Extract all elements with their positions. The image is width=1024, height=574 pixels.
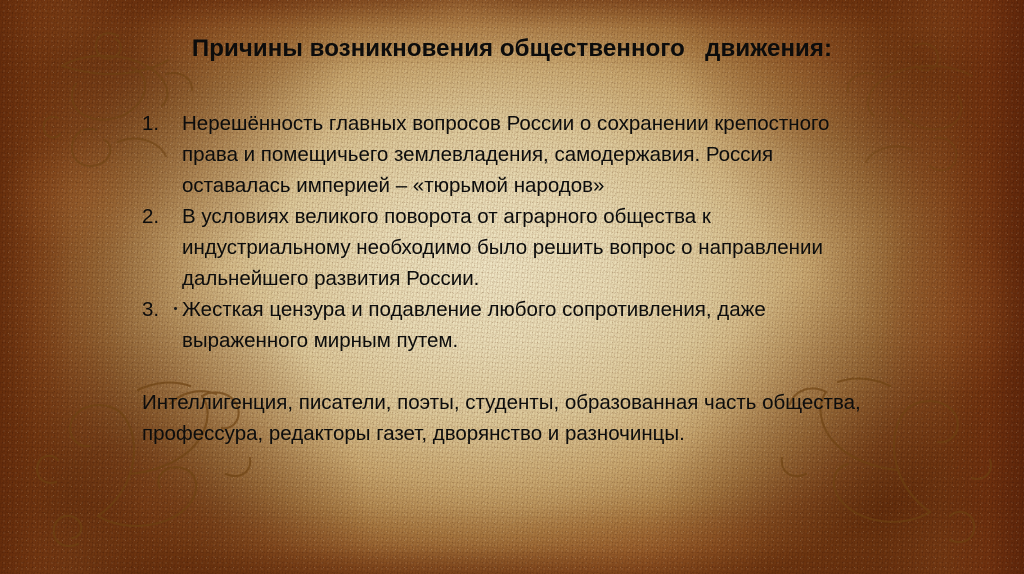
list-item-text: Нерешённость главных вопросов России о с… (182, 108, 882, 201)
list-item-marker: 2. (142, 201, 172, 232)
presentation-slide: Причины возникновения общественного движ… (0, 0, 1024, 574)
page-title: Причины возникновения общественного движ… (0, 34, 1024, 64)
slide-body: 1. Нерешённость главных вопросов России … (142, 108, 882, 449)
causes-numbered-list: 1. Нерешённость главных вопросов России … (142, 108, 882, 356)
slide-content: Причины возникновения общественного движ… (0, 0, 1024, 574)
list-item: 1. Нерешённость главных вопросов России … (142, 108, 882, 201)
stray-bullet-dot (174, 307, 177, 310)
list-item: 2. В условиях великого поворота от аграр… (142, 201, 882, 294)
list-item-marker: 3. (142, 294, 172, 325)
list-item-text: Жесткая цензура и подавление любого сопр… (182, 294, 882, 356)
closing-paragraph: Интеллигенция, писатели, поэты, студенты… (142, 356, 882, 449)
list-item: 3. Жесткая цензура и подавление любого с… (142, 294, 882, 356)
list-item-text: В условиях великого поворота от аграрног… (182, 201, 882, 294)
list-item-marker: 1. (142, 108, 172, 139)
